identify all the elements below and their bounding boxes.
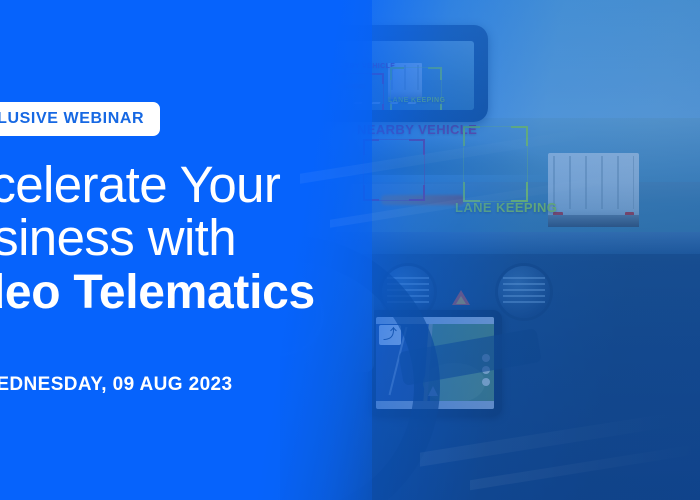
headline-line-2: Business with xyxy=(0,211,315,264)
webinar-banner: NEARBY VEHICLE LANE KEEPING xyxy=(0,0,700,500)
banner-content: CLIENT-EXCLUSIVE WEBINAR Accelerate Your… xyxy=(0,0,700,500)
page-title: Accelerate Your Business with Video Tele… xyxy=(0,158,315,318)
webinar-badge: CLIENT-EXCLUSIVE WEBINAR xyxy=(0,102,160,136)
webinar-date: WEDNESDAY, 09 AUG 2023 xyxy=(0,374,233,396)
headline-line-1: Accelerate Your xyxy=(0,158,315,211)
headline-line-3: Video Telematics xyxy=(0,268,315,318)
